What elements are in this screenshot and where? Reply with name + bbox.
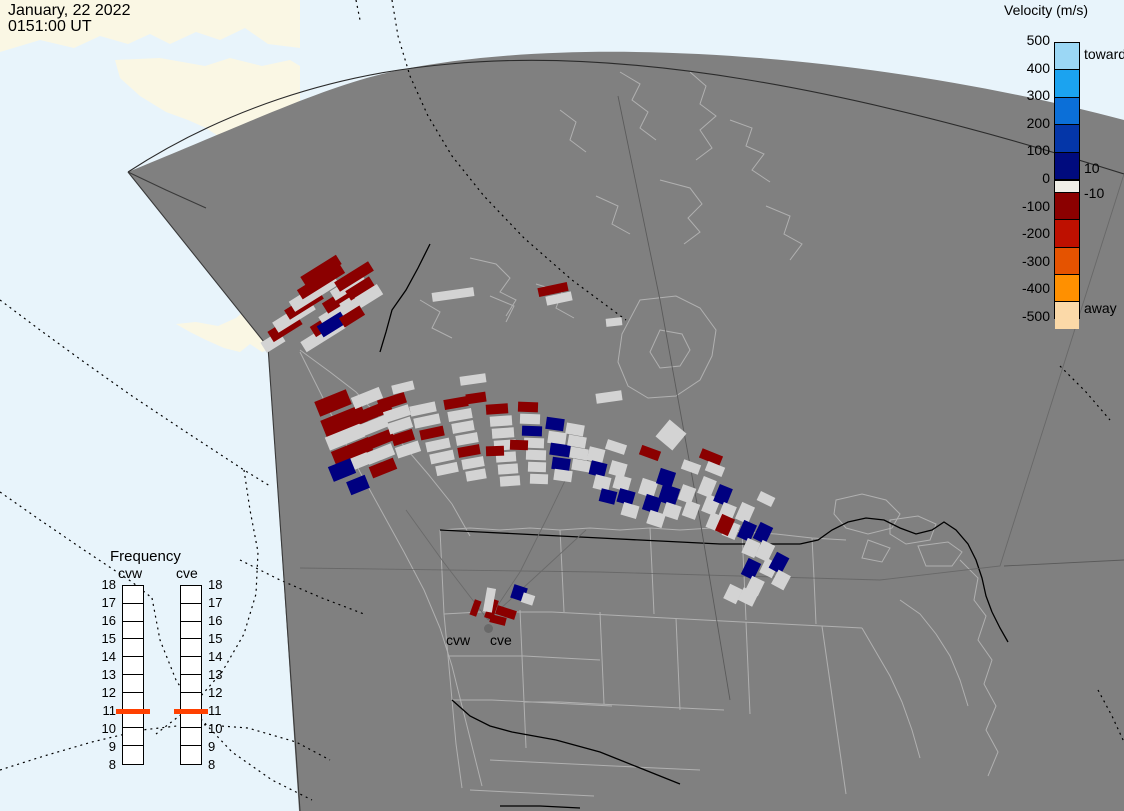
away-velocity-cell [518,402,538,413]
radar-fan-plot: cvw cve January, 22 2022 0151:00 UT Velo… [0,0,1124,811]
frequency-scale-cve-12: 12 [208,685,228,700]
colorbar-label-pos-threshold: 10 [1084,160,1100,176]
site-label-cvw: cvw [446,632,470,648]
colorbar-side-labels: toward10-10away [1084,0,1124,340]
ground-scatter-cell [521,592,536,605]
ground-scatter-cell [621,502,640,519]
colorbar-band--400 [1055,275,1079,302]
frequency-marker-cvw [116,709,150,714]
colorbar-tick-500: 500 [1002,32,1050,48]
toward-velocity-cell [346,475,370,495]
ground-scatter-cell [498,463,519,474]
colorbar-tick--400: -400 [1002,280,1050,296]
ground-scatter-cell [757,491,776,507]
frequency-gauge-segment [181,657,201,675]
frequency-gauge-segment [181,622,201,640]
colorbar-tick-300: 300 [1002,87,1050,103]
ground-scatter-cell [571,459,591,473]
colorbar-label-away: away [1084,300,1117,316]
away-velocity-cell [486,403,509,415]
colorbar-band--500 [1055,302,1079,328]
frequency-scale-cve-8: 8 [208,757,228,772]
colorbar-band--300 [1055,248,1079,275]
frequency-scale-cve-15: 15 [208,631,228,646]
frequency-scale-cvw-12: 12 [96,685,116,700]
frequency-gauge-segment [123,639,143,657]
frequency-scale-cvw-17: 17 [96,595,116,610]
frequency-gauge-segment [123,746,143,764]
ground-scatter-cell [500,475,521,486]
colorbar-band-0 [1055,180,1079,192]
toward-velocity-cell [599,488,618,504]
ground-scatter-cell [656,420,687,451]
colorbar-tick-100: 100 [1002,142,1050,158]
frequency-scale-cvw-9: 9 [96,739,116,754]
colorbar-label-neg-threshold: -10 [1084,185,1104,201]
colorbar-tick-400: 400 [1002,60,1050,76]
frequency-scale-cvw-18: 18 [96,577,116,592]
date-label: January, 22 2022 [8,3,130,19]
ground-scatter-cell [606,317,623,327]
toward-velocity-cell [545,417,564,431]
ground-scatter-cell [432,287,475,302]
frequency-scale-cvw-13: 13 [96,667,116,682]
colorbar-tick--300: -300 [1002,253,1050,269]
colorbar-band-400 [1055,70,1079,97]
away-velocity-cell [639,445,661,461]
colorbar-tick--100: -100 [1002,198,1050,214]
ground-scatter-cell [461,456,484,470]
colorbar-band-500 [1055,43,1079,70]
ground-scatter-cell [595,390,622,404]
away-velocity-cell [469,599,481,616]
frequency-gauge-segment [123,657,143,675]
frequency-gauge-segment [123,604,143,622]
ground-scatter-cell [435,462,459,476]
toward-velocity-cell [522,426,542,437]
frequency-gauge-segment [181,604,201,622]
colorbar-tick--500: -500 [1002,308,1050,324]
ground-scatter-cell [705,461,725,477]
ground-scatter-cell [520,414,540,425]
ground-scatter-cell [526,450,546,461]
frequency-scale-cvw-10: 10 [96,721,116,736]
frequency-gauge-cvw [122,585,144,765]
frequency-gauge-cve [180,585,202,765]
away-velocity-cell [486,446,504,457]
colorbar-tick-0: 0 [1002,170,1050,186]
ground-scatter-cell [553,469,572,482]
ground-scatter-cell [460,373,487,386]
ground-scatter-cell [492,427,515,439]
frequency-scale-cve-16: 16 [208,613,228,628]
frequency-gauge-segment [181,693,201,711]
away-velocity-cell [510,440,528,451]
frequency-gauge-segment [181,675,201,693]
frequency-gauge-segment [123,675,143,693]
site-label-cve: cve [490,632,512,648]
frequency-gauge-segment [181,728,201,746]
ground-scatter-cell [530,474,548,485]
ground-scatter-cell [451,420,474,434]
frequency-gauge-segment [181,586,201,604]
colorbar-gradient [1054,42,1080,319]
frequency-gauge-segment [181,746,201,764]
frequency-scale-cvw-8: 8 [96,757,116,772]
time-label: 0151:00 UT [8,19,92,35]
frequency-scale-cvw-15: 15 [96,631,116,646]
frequency-scale-cve-9: 9 [208,739,228,754]
colorbar-band--100 [1055,193,1079,220]
colorbar-tick-200: 200 [1002,115,1050,131]
ground-scatter-cell [681,459,701,475]
frequency-gauge-segment [123,586,143,604]
away-velocity-cell [457,444,480,458]
frequency-marker-cve [174,709,208,714]
ground-scatter-cell [682,500,701,520]
ground-scatter-cell [662,502,682,520]
frequency-scale-cve-17: 17 [208,595,228,610]
colorbar-band--200 [1055,220,1079,247]
frequency-scale-cve-13: 13 [208,667,228,682]
frequency-scale-cve-14: 14 [208,649,228,664]
frequency-scale-cve-10: 10 [208,721,228,736]
frequency-gauge-segment [123,622,143,640]
frequency-scale-cve-18: 18 [208,577,228,592]
frequency-gauge-segment [181,639,201,657]
frequency-scale-cve-11: 11 [208,703,228,718]
away-velocity-cell [465,392,486,405]
ground-scatter-cell [465,468,486,481]
colorbar-label-toward: toward [1084,46,1124,62]
frequency-gauge-segment [123,693,143,711]
colorbar-band-100 [1055,153,1079,180]
frequency-scale-cvw-11: 11 [96,703,116,718]
ground-scatter-cell [605,439,627,455]
ground-scatter-cell [528,462,546,473]
toward-velocity-cell [328,458,356,482]
colorbar-tick-labels: 5004003002001000-100-200-300-400-500 [1000,0,1050,340]
frequency-gauge-title-cvw: cvw [118,565,142,581]
frequency-panel: cvw18171615141312111098cve18171615141312… [80,565,260,795]
colorbar-band-300 [1055,98,1079,125]
frequency-scale-cvw-16: 16 [96,613,116,628]
frequency-gauge-title-cve: cve [176,565,198,581]
colorbar-tick--200: -200 [1002,225,1050,241]
frequency-title: Frequency [110,548,181,565]
ground-scatter-cell [490,415,513,427]
colorbar-band-200 [1055,125,1079,152]
frequency-gauge-segment [123,728,143,746]
frequency-scale-cvw-14: 14 [96,649,116,664]
